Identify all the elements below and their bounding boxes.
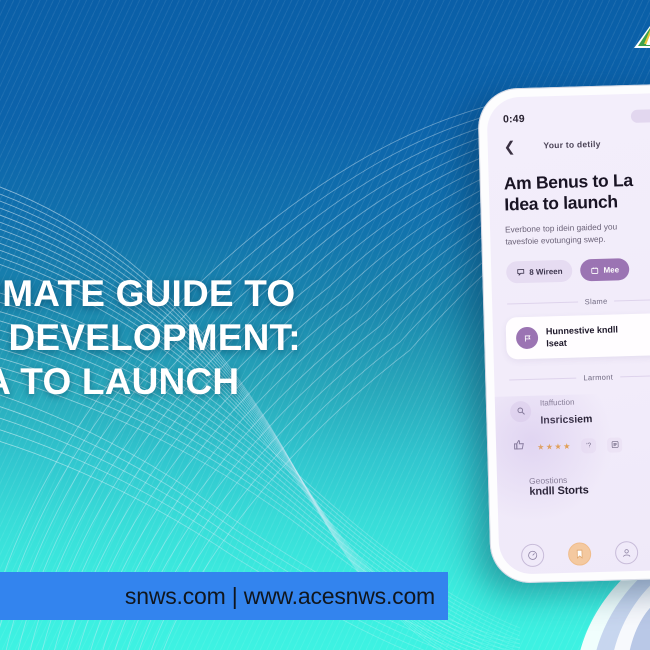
chevron-left-icon[interactable]: ❮ — [504, 139, 516, 153]
status-time: 0:49 — [503, 113, 525, 126]
dynamic-island — [631, 108, 650, 122]
bookmark-icon[interactable] — [568, 542, 592, 566]
star-icon: ★ — [554, 442, 561, 451]
list-icon[interactable] — [607, 437, 622, 452]
star-icon: ★ — [563, 441, 570, 450]
feature-card-title-line-1: Hunnestive kndll — [546, 324, 618, 336]
feature-card-title: Hunnestive kndll Iseat — [546, 323, 619, 349]
headline-line-1: ULTIMATE GUIDE TO — [0, 272, 482, 316]
divider-line — [614, 299, 650, 302]
phone-frame: 0:49 ❮ Your to detily Am Benus to La Ide… — [477, 83, 650, 584]
search-settings-icon — [510, 400, 532, 422]
feature-card[interactable]: Hunnestive kndll Iseat — [506, 312, 650, 359]
phone-screen: 0:49 ❮ Your to detily Am Benus to La Ide… — [486, 92, 650, 575]
website-url-text: snws.com | www.acesnws.com — [125, 583, 435, 610]
star-icon: ★ — [546, 442, 553, 451]
bottom-content-block: Geostions kndll Storts — [496, 451, 650, 499]
page-title: ULTIMATE GUIDE TO APP DEVELOPMENT: IDEA … — [0, 272, 482, 404]
action-pill-row: 8 Wireen Mee — [491, 242, 650, 284]
hero-title: Am Benus to La Idea to launch — [503, 169, 650, 216]
compass-icon[interactable] — [521, 544, 545, 568]
headline-line-3: IDEA TO LAUNCH — [0, 360, 482, 404]
list-item[interactable]: Itaffuction Insricsiem — [494, 379, 650, 430]
nav-title: Your to detily — [543, 139, 600, 151]
query-badge[interactable]: '? — [581, 438, 596, 453]
hero-section: Am Benus to La Idea to launch Everbone t… — [488, 148, 650, 248]
feature-card-title-line-2: Iseat — [546, 338, 567, 349]
calendar-icon — [590, 265, 599, 274]
list-item-subtitle: Itaffuction — [540, 398, 575, 408]
hero-body-line-2: tavesfoie evotunging swep. — [505, 234, 605, 247]
rating-action-row: ★ ★ ★ ★ '? — [496, 424, 650, 457]
comment-icon — [516, 267, 525, 276]
meeting-pill[interactable]: Mee — [580, 258, 629, 281]
list-item-title: Insricsiem — [540, 413, 592, 426]
promo-banner: ULTIMATE GUIDE TO APP DEVELOPMENT: IDEA … — [0, 0, 650, 650]
phone-mockup: 0:49 ❮ Your to detily Am Benus to La Ide… — [477, 83, 650, 584]
partial-logo-mark-icon — [624, 24, 650, 50]
star-rating[interactable]: ★ ★ ★ ★ — [537, 441, 570, 451]
hero-title-line-1: Am Benus to La — [503, 170, 633, 194]
comment-count-label: 8 Wireen — [529, 266, 563, 276]
divider-line — [507, 302, 578, 305]
hero-body-line-1: Everbone top idein gaided you — [505, 221, 617, 234]
divider-line — [620, 374, 650, 377]
flag-icon — [516, 327, 539, 350]
headline-line-2: APP DEVELOPMENT: — [0, 316, 482, 360]
user-icon[interactable] — [615, 541, 639, 565]
comment-count-pill[interactable]: 8 Wireen — [506, 260, 573, 284]
list-item-text: Itaffuction Insricsiem — [540, 391, 593, 428]
bottom-tab-bar — [499, 539, 650, 568]
meeting-label: Mee — [603, 265, 619, 274]
divider-label: Slame — [585, 297, 608, 307]
star-icon: ★ — [537, 442, 544, 451]
divider-label: Larmont — [583, 373, 613, 383]
divider-line — [509, 378, 576, 381]
website-url-bar[interactable]: snws.com | www.acesnws.com — [0, 572, 448, 620]
hero-title-line-2: Idea to launch — [504, 191, 618, 214]
thumbs-up-icon[interactable] — [513, 438, 526, 456]
